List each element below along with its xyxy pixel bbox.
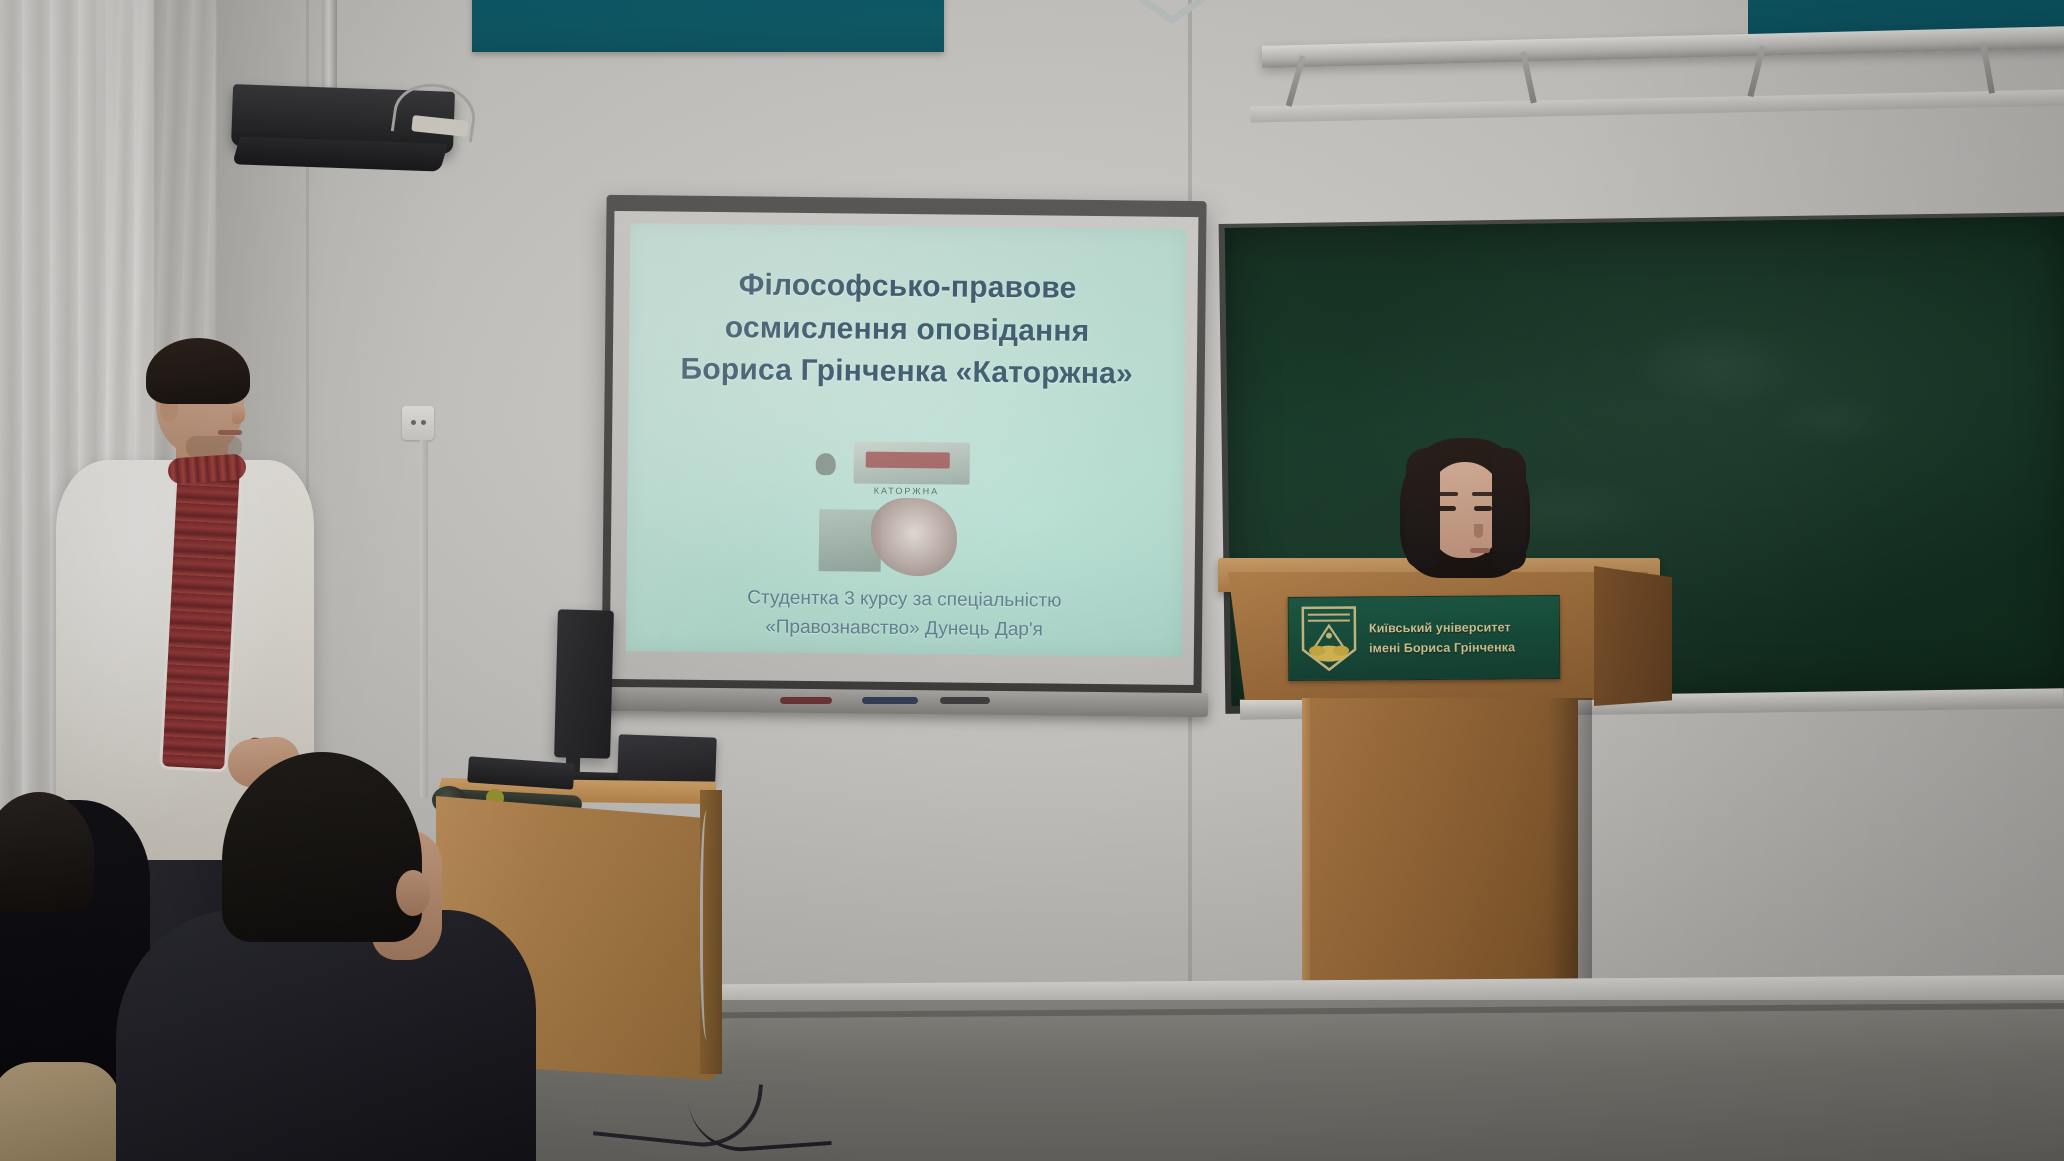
- audience-person-body: [116, 910, 536, 1161]
- book-cover-figure: [871, 498, 958, 577]
- slide-subtitle-line-2: «Правознавство» Дунець Дар'я: [648, 612, 1160, 646]
- presenter-hair-strand: [1406, 448, 1440, 568]
- projection-screen: Філософсько-правове осмислення оповіданн…: [626, 223, 1186, 657]
- slide-subtitle: Студентка 3 курсу за спеціальністю «Прав…: [648, 583, 1161, 645]
- nose: [1474, 524, 1483, 538]
- podium-side-panel: [1594, 566, 1672, 706]
- slide-title-line-2: осмислення оповідання: [657, 306, 1157, 354]
- mouth: [218, 430, 242, 435]
- projector-mount-pole: [322, 0, 337, 96]
- mouth: [1470, 548, 1490, 553]
- desk-cable: [700, 810, 717, 1040]
- plaque-line-2: імені Бориса Грінченка: [1369, 640, 1515, 655]
- eyebrow: [1472, 492, 1494, 496]
- marker-pen[interactable]: [940, 697, 990, 704]
- book-cover-mark: [816, 453, 836, 475]
- classroom-photo-scene: Філософсько-правове осмислення оповіданн…: [0, 0, 2064, 1161]
- slide-title-line-3: Бориса Грінченка «Каторжна»: [656, 349, 1156, 397]
- eye: [1438, 506, 1456, 511]
- wall-cable-conduit: [420, 440, 428, 798]
- slide-book-cover-image: КАТОРЖНА: [813, 437, 1000, 579]
- wall-power-socket[interactable]: [402, 406, 434, 440]
- eye: [1474, 506, 1492, 511]
- marker-pen[interactable]: [780, 697, 832, 704]
- computer-monitor: [554, 609, 614, 758]
- moderator-hair: [146, 338, 250, 404]
- audience-person-shoulder: [0, 1062, 120, 1161]
- book-cover-band: [866, 452, 950, 469]
- socket-hole: [421, 420, 426, 425]
- audience-person-ear: [396, 870, 430, 916]
- nose: [232, 404, 245, 424]
- plaque-line-1: Київський університет: [1369, 620, 1511, 635]
- presenter-person: [1400, 438, 1530, 578]
- slide-title: Філософсько-правове осмислення оповіданн…: [656, 263, 1157, 396]
- wall-banner: [472, 0, 944, 52]
- computer-tower: [617, 734, 717, 783]
- university-crest-icon: [1299, 603, 1359, 673]
- slide-title-line-1: Філософсько-правове: [657, 263, 1157, 311]
- podium-plaque: Київський університет імені Бориса Грінч…: [1288, 595, 1561, 681]
- chevron-icon: [1112, 0, 1232, 24]
- marker-pen[interactable]: [862, 697, 918, 704]
- socket-hole: [411, 420, 416, 425]
- vyshyvanka-collar: [167, 453, 247, 484]
- presenter-hair-strand: [1492, 448, 1526, 570]
